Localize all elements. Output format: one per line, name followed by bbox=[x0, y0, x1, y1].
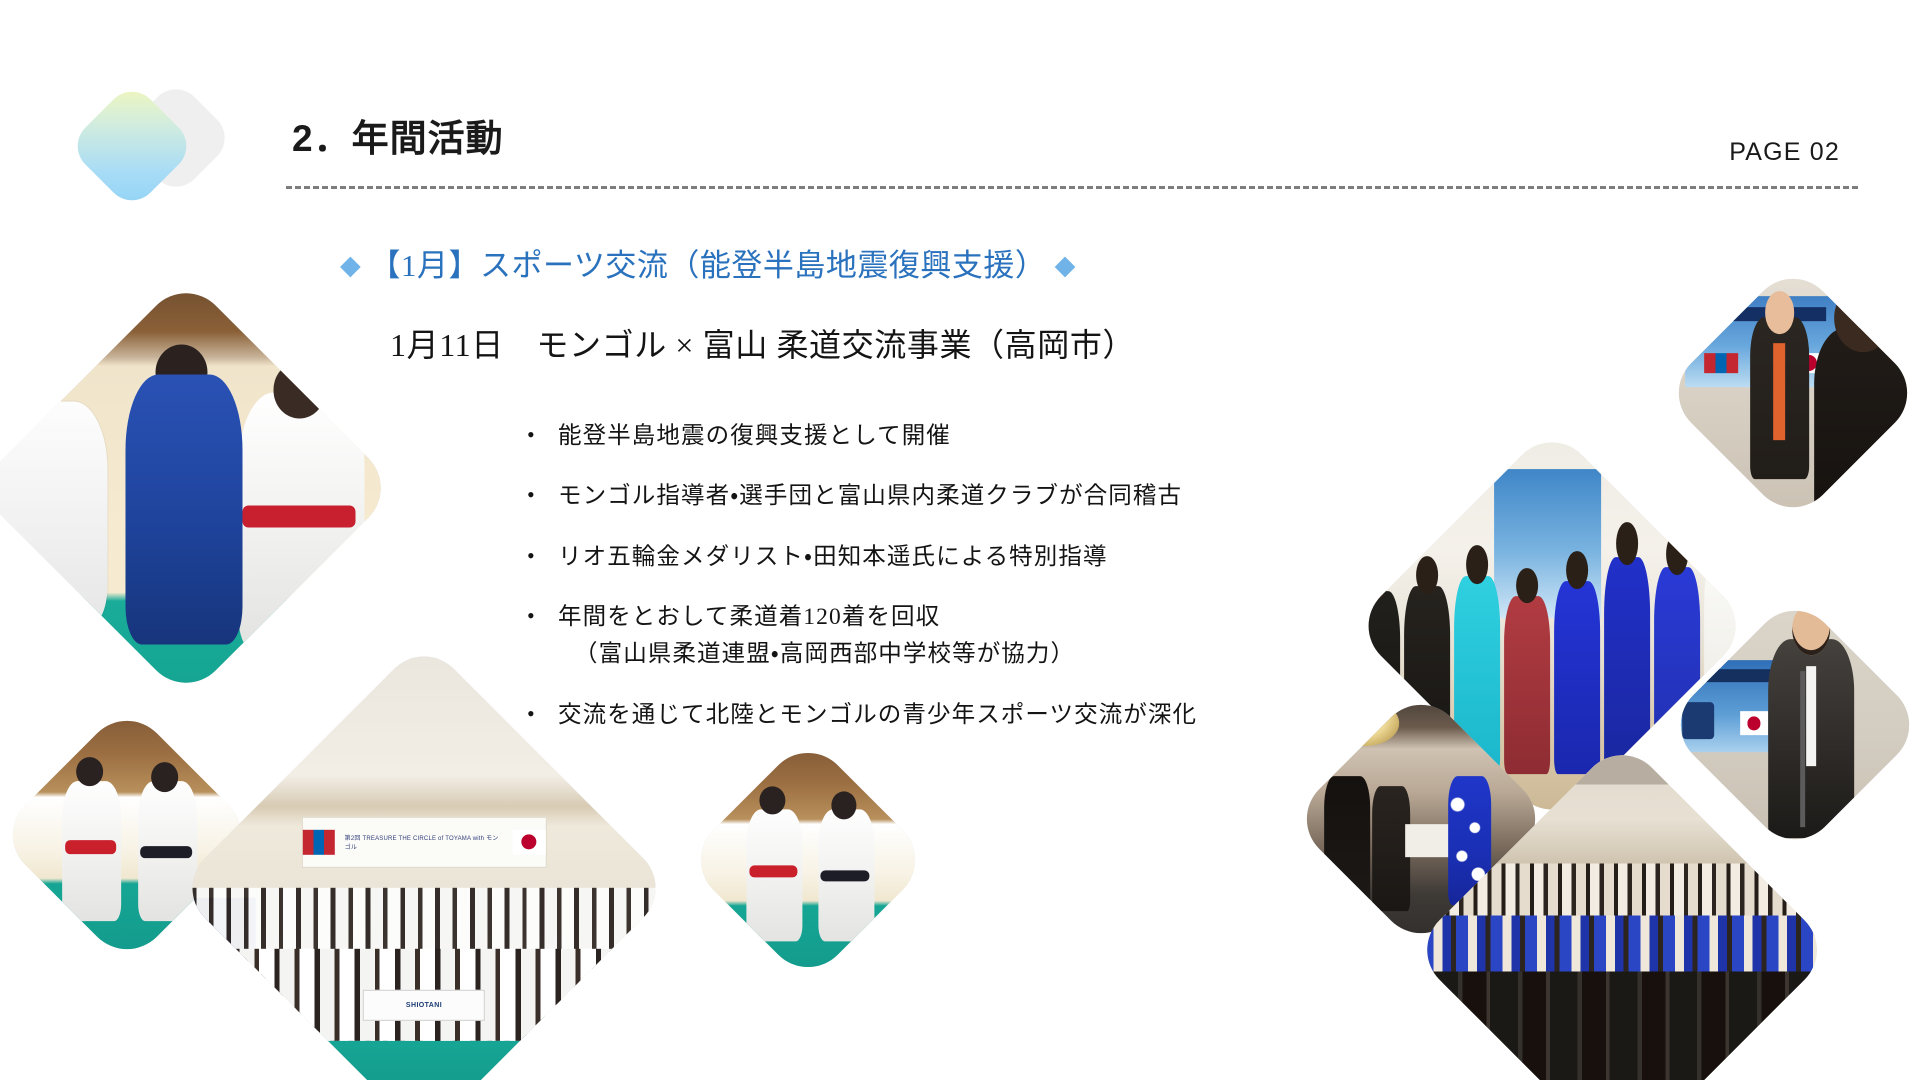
kid-belt-black bbox=[140, 846, 191, 858]
bullet-text: モンゴル指導者・選手団と富山県内柔道クラブが合同稽古 bbox=[558, 483, 1182, 509]
judo-belt-red bbox=[134, 488, 238, 514]
speaker-man bbox=[1768, 639, 1854, 839]
diamond-left-icon: ◆ bbox=[340, 250, 361, 280]
event-title: 1月11日 モンゴル × 富山 柔道交流事業（高岡市） bbox=[390, 320, 1135, 366]
list-item: 能登半島地震の復興支援として開催 bbox=[524, 420, 1284, 453]
kid-head-left bbox=[76, 757, 103, 787]
mongolia-flag-icon bbox=[302, 829, 334, 854]
participant bbox=[1504, 596, 1549, 774]
scene-speaker-woman bbox=[1661, 261, 1920, 524]
microphone-stand bbox=[1800, 671, 1804, 827]
section-heading-text: 【1月】スポーツ交流（能登半島地震復興支援） bbox=[370, 248, 1047, 283]
speaker-woman bbox=[1750, 317, 1809, 479]
list-item: 交流を通じて北陸とモンゴルの青少年スポーツ交流が深化 bbox=[524, 699, 1284, 732]
bullet-text: 年間をとおして柔道着120着を回収 bbox=[558, 604, 940, 630]
mongolia-flag-icon bbox=[1704, 353, 1738, 373]
photo-speaker-woman bbox=[1661, 261, 1920, 524]
poster-emblem bbox=[1682, 702, 1714, 739]
list-item: モンゴル指導者・選手団と富山県内柔道クラブが合同稽古 bbox=[524, 480, 1284, 513]
sponsor-board: SHIOTANI bbox=[363, 990, 485, 1021]
judo-belt-red-2 bbox=[243, 505, 356, 527]
scene-dojo bbox=[0, 276, 398, 700]
japan-flag-icon bbox=[513, 829, 545, 854]
bullet-text: リオ五輪金メダリスト・田知本遥氏による特別指導 bbox=[558, 544, 1108, 570]
bullet-text: 交流を通じて北陸とモンゴルの青少年スポーツ交流が深化 bbox=[558, 702, 1197, 728]
portrait-row-front bbox=[1431, 972, 1814, 1080]
chandelier bbox=[1329, 700, 1399, 746]
throw-belt-black bbox=[821, 870, 869, 881]
participant bbox=[1604, 557, 1649, 774]
photo-speaker-woman-image bbox=[1661, 261, 1920, 524]
judoka-head-blue bbox=[156, 344, 208, 401]
bullet-list: 能登半島地震の復興支援として開催 モンゴル指導者・選手団と富山県内柔道クラブが合… bbox=[524, 420, 1284, 759]
page-number: PAGE 02 bbox=[1729, 138, 1840, 167]
diamond-right-icon: ◆ bbox=[1055, 250, 1076, 280]
mountain-logo bbox=[72, 84, 232, 204]
bullet-text: 能登半島地震の復興支援として開催 bbox=[558, 423, 951, 449]
list-item: 年間をとおして柔道着120着を回収 （富山県柔道連盟・高岡西部中学校等が協力） bbox=[524, 601, 1284, 672]
guest-suit-1 bbox=[1324, 776, 1370, 916]
list-item: リオ五輪金メダリスト・田知本遥氏による特別指導 bbox=[524, 541, 1284, 574]
banner-text: 第2回 TREASURE THE CIRCLE of TOYAMA with モ… bbox=[345, 833, 504, 851]
header-divider bbox=[286, 186, 1858, 189]
photo-judo-main bbox=[0, 276, 398, 700]
kid-head-right bbox=[151, 762, 178, 792]
judoka-head-white bbox=[273, 362, 325, 419]
photo-judo-throw-image bbox=[684, 736, 933, 985]
slide-root: 2．年間活動 PAGE 02 ◆ 【1月】スポーツ交流（能登半島地震復興支援） … bbox=[0, 0, 1920, 1080]
japan-flag-icon bbox=[1740, 712, 1768, 736]
throw-belt-red bbox=[749, 865, 797, 878]
event-banner: 第2回 TREASURE THE CIRCLE of TOYAMA with モ… bbox=[301, 817, 546, 868]
bullet-subtext: （富山県柔道連盟・高岡西部中学校等が協力） bbox=[558, 638, 1284, 671]
receiver-head bbox=[831, 791, 857, 819]
kid-belt-red bbox=[65, 840, 116, 853]
scene-gym-throw bbox=[684, 736, 933, 985]
thrower-head bbox=[760, 786, 786, 814]
photo-judo-main-image bbox=[0, 276, 398, 700]
photo-judo-throw bbox=[684, 736, 933, 985]
participant bbox=[1554, 582, 1599, 775]
page-title: 2．年間活動 bbox=[292, 108, 504, 162]
section-heading: ◆ 【1月】スポーツ交流（能登半島地震復興支援） ◆ bbox=[340, 240, 1076, 285]
foreground-listener bbox=[1815, 328, 1920, 524]
